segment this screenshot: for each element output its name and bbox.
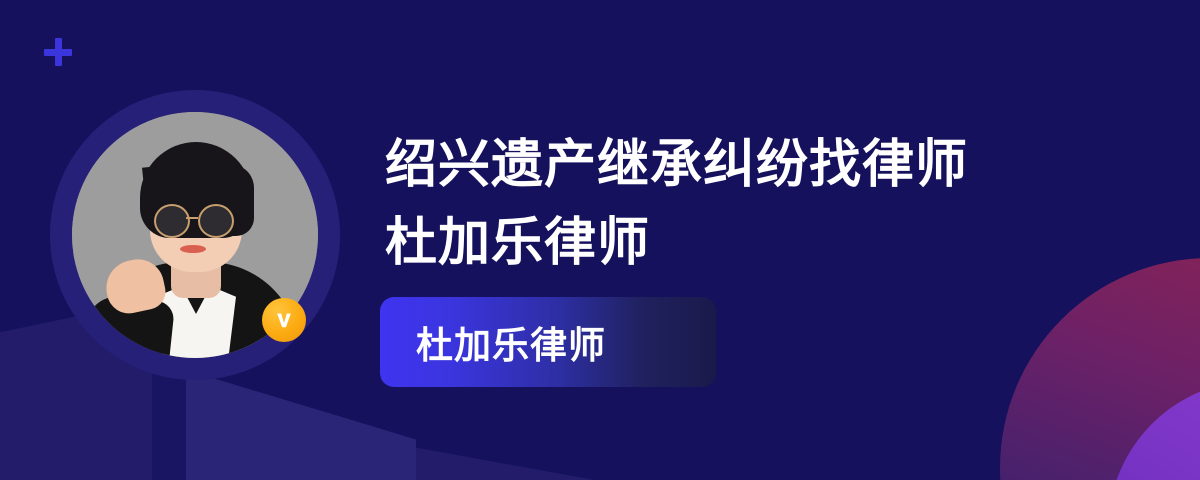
lawyer-name-button-label: 杜加乐律师 [416,315,606,369]
portrait-glasses-right-lens [198,204,234,238]
headline-line-1: 绍兴遗产继承纠纷找律师 [385,126,1085,204]
plus-icon [44,38,72,66]
decorative-circle-inner [1108,380,1200,480]
portrait-glasses-left-lens [154,204,190,238]
verified-v-badge-icon [262,298,306,342]
plus-icon-vertical-bar [55,38,62,66]
wedge-shape-wide [186,406,606,480]
portrait-glasses-bridge [186,217,198,219]
portrait-lips [180,245,206,253]
lawyer-name-button[interactable]: 杜加乐律师 [380,297,716,387]
headline-line-2: 杜加乐律师 [385,204,1085,282]
promo-banner: 绍兴遗产继承纠纷找律师 杜加乐律师 杜加乐律师 [0,0,1200,480]
decorative-circle-outer [1000,258,1200,480]
avatar [50,90,340,380]
wedge-shape-triangle [186,370,416,480]
page-title: 绍兴遗产继承纠纷找律师 杜加乐律师 [385,126,1085,282]
